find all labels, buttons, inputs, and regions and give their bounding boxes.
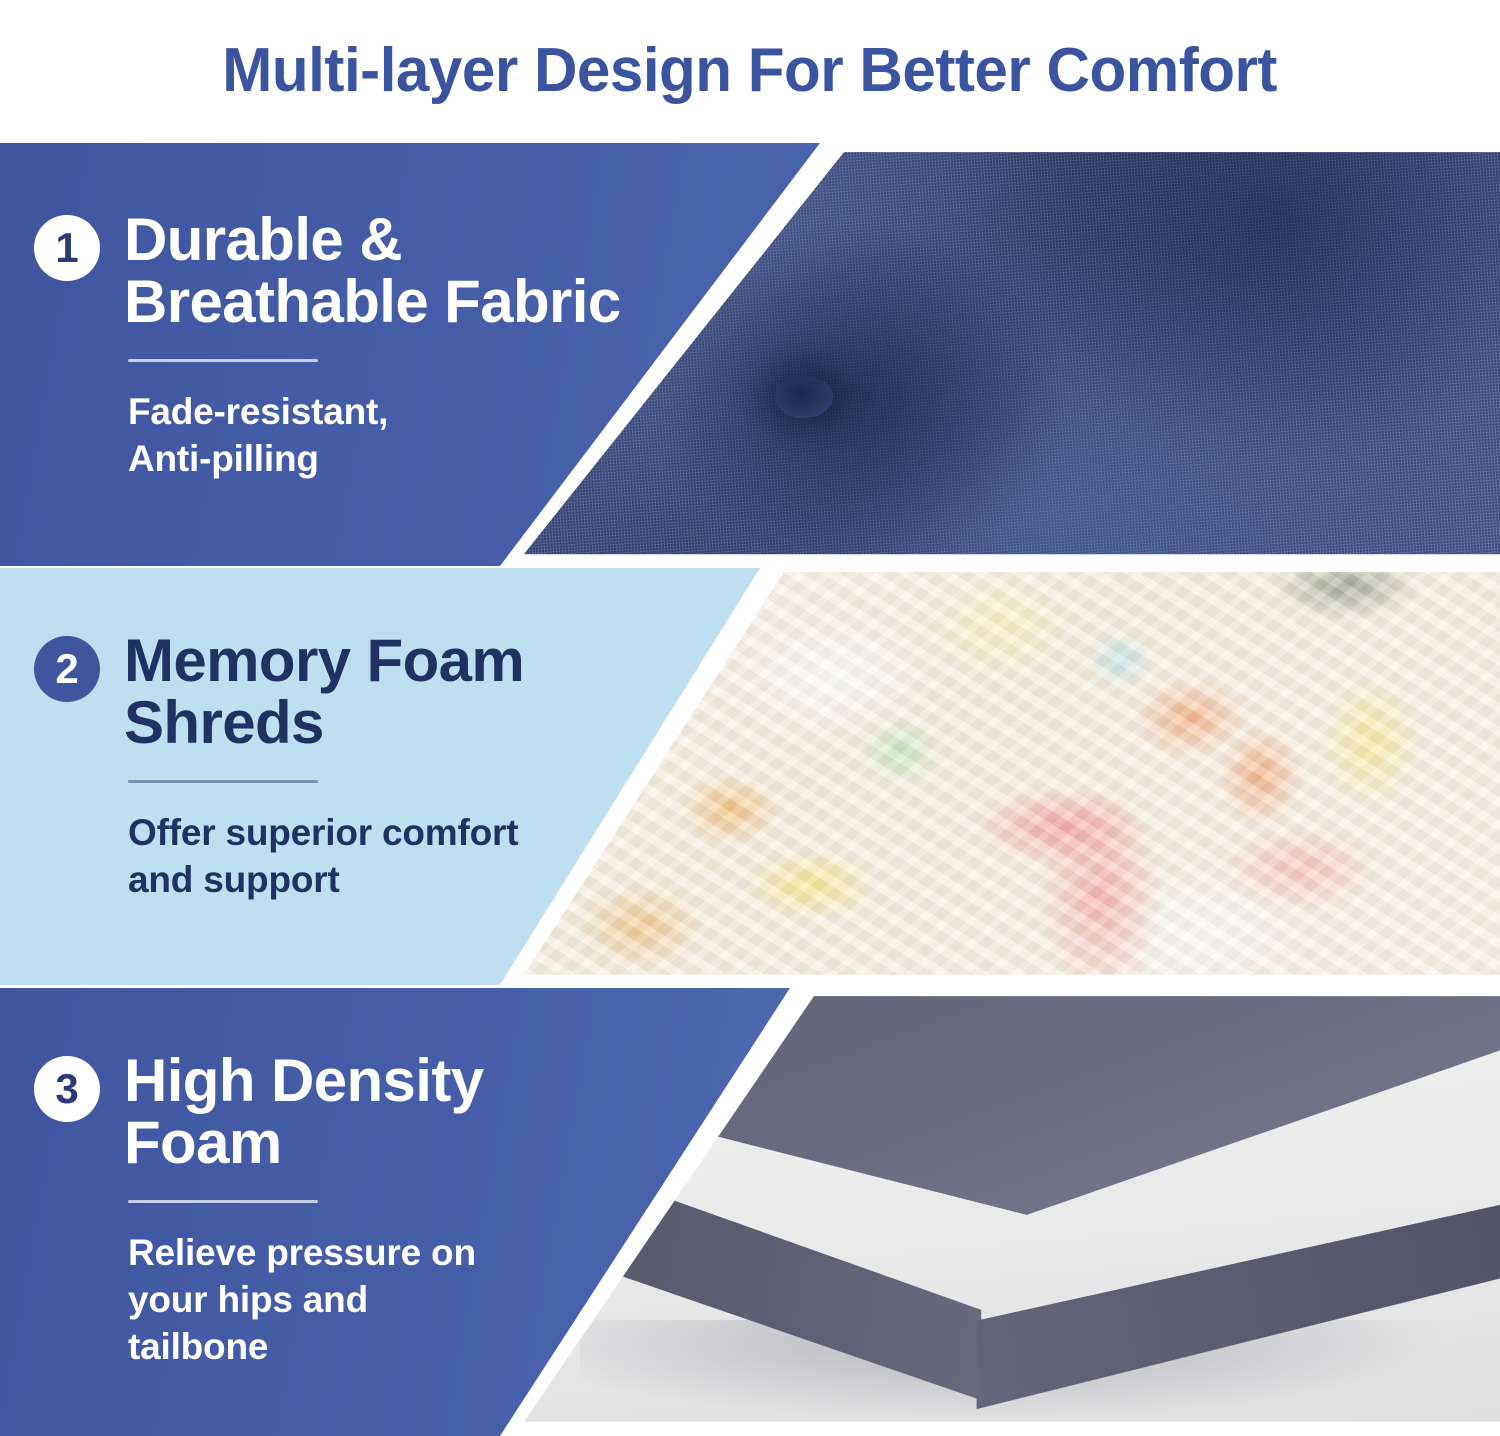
panel-3-photo-region (500, 988, 1500, 1436)
panel-2-heading: Memory Foam Shreds (124, 630, 524, 754)
panel-3-heading-row: 3 High Density Foam (34, 1050, 634, 1174)
shreds-shadow-accent (1270, 568, 1420, 621)
page-title-bar: Multi-layer Design For Better Comfort (0, 0, 1500, 140)
panel-3-subtext: Relieve pressure on your hips and tailbo… (128, 1229, 634, 1371)
panel-2-content: 2 Memory Foam Shreds Offer superior comf… (34, 630, 634, 903)
panel-3-divider (128, 1200, 318, 1203)
panel-2-heading-row: 2 Memory Foam Shreds (34, 630, 634, 754)
multi-layer-design-infographic: Multi-layer Design For Better Comfort 1 … (0, 0, 1500, 1436)
panel-1-divider (128, 359, 318, 362)
feature-panel-3: 3 High Density Foam Relieve pressure on … (0, 988, 1500, 1436)
panel-2-step-badge: 2 (34, 636, 100, 702)
panel-3-content: 3 High Density Foam Relieve pressure on … (34, 1050, 634, 1371)
feature-panel-2: 2 Memory Foam Shreds Offer superior comf… (0, 568, 1500, 985)
panel-2-subtext: Offer superior comfort and support (128, 809, 634, 904)
panel-3-heading: High Density Foam (124, 1050, 484, 1174)
fabric-tuft-button (775, 376, 833, 418)
navy-tufted-fabric-photo (500, 143, 1500, 566)
feature-panel-1: 1 Durable & Breathable Fabric Fade-resis… (0, 143, 1500, 566)
page-title: Multi-layer Design For Better Comfort (223, 35, 1278, 106)
panel-2-photo-region (500, 568, 1500, 985)
panel-1-heading: Durable & Breathable Fabric (124, 209, 621, 333)
panel-2-divider (128, 780, 318, 783)
panel-1-step-badge: 1 (34, 215, 100, 281)
panel-1-content: 1 Durable & Breathable Fabric Fade-resis… (34, 209, 634, 482)
panel-3-step-badge: 3 (34, 1056, 100, 1122)
panel-1-heading-row: 1 Durable & Breathable Fabric (34, 209, 634, 333)
panel-1-subtext: Fade-resistant, Anti-pilling (128, 388, 634, 483)
panel-1-photo-region (500, 143, 1500, 566)
